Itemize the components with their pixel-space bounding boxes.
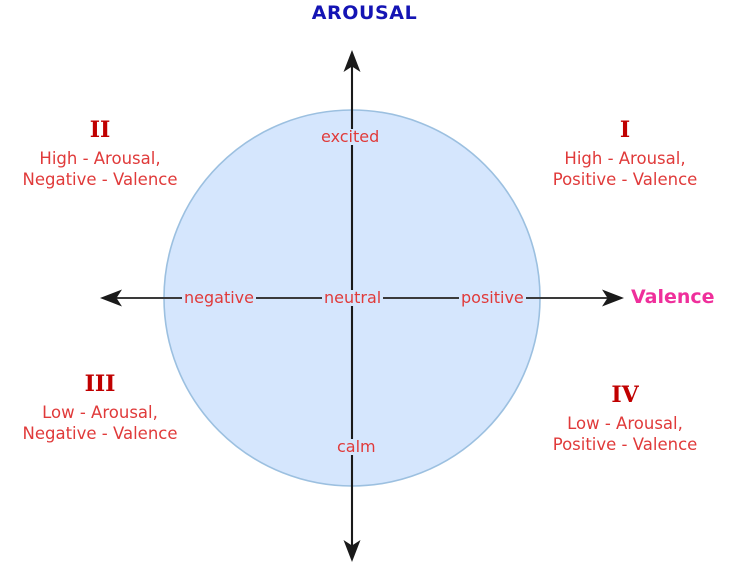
inner-label-negative: negative [182, 290, 256, 306]
inner-label-positive: positive [459, 290, 526, 306]
inner-label-neutral: neutral [322, 290, 383, 306]
quadrant-2-line1: High - Arousal, [0, 148, 200, 169]
quadrant-4-line2: Positive - Valence [521, 434, 729, 455]
quadrant-1-line1: High - Arousal, [521, 148, 729, 169]
quadrant-1-line2: Positive - Valence [521, 169, 729, 190]
quadrant-1-roman: I [521, 118, 729, 142]
diagram-canvas: AROUSAL Valence excited calm negative ne… [0, 0, 729, 564]
quadrant-3-line1: Low - Arousal, [0, 402, 200, 423]
quadrant-4-roman: IV [521, 383, 729, 407]
quadrant-3: III Low - Arousal, Negative - Valence [0, 372, 200, 444]
quadrant-3-roman: III [0, 372, 200, 396]
quadrant-2: II High - Arousal, Negative - Valence [0, 118, 200, 190]
quadrant-2-line2: Negative - Valence [0, 169, 200, 190]
quadrant-2-roman: II [0, 118, 200, 142]
quadrant-4-line1: Low - Arousal, [521, 413, 729, 434]
inner-label-calm: calm [334, 439, 379, 455]
quadrant-1: I High - Arousal, Positive - Valence [521, 118, 729, 190]
valence-axis-title: Valence [631, 286, 715, 308]
quadrant-4: IV Low - Arousal, Positive - Valence [521, 383, 729, 455]
quadrant-3-line2: Negative - Valence [0, 423, 200, 444]
axes-and-circle-graphic [0, 0, 729, 564]
inner-label-excited: excited [318, 129, 382, 145]
